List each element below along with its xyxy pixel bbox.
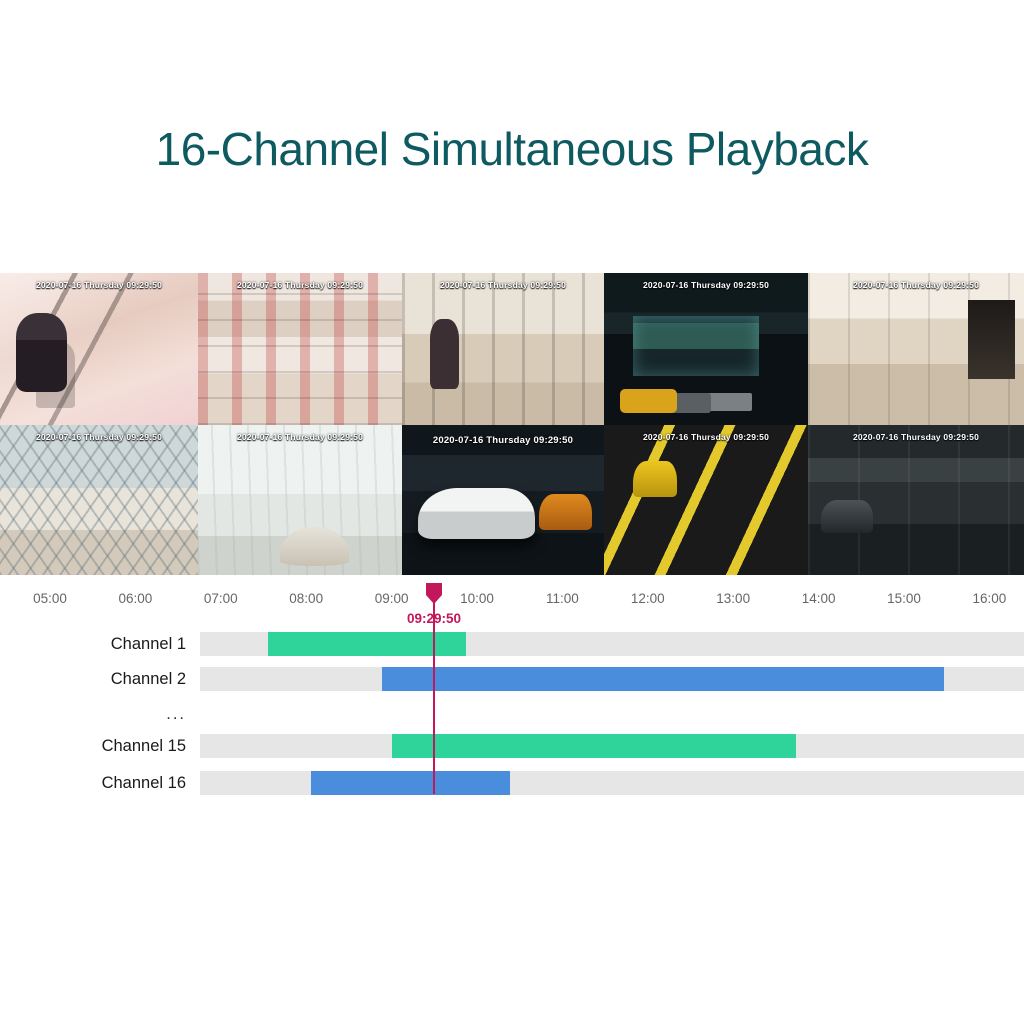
recording-segment-1[interactable]	[382, 667, 944, 691]
video-tile-7[interactable]: 2020-07-16 Thursday 09:29:50	[198, 425, 402, 575]
recording-segment-1[interactable]	[392, 734, 796, 758]
osd-timestamp: 2020-07-16 Thursday 09:29:50	[198, 280, 402, 290]
osd-timestamp: 2020-07-16 Thursday 09:29:50	[0, 280, 198, 290]
video-feed-parking-lot-yellow-lines	[604, 425, 808, 575]
video-feed-mall-white-interior	[198, 425, 402, 575]
recording-segment-1[interactable]	[268, 632, 466, 656]
osd-timestamp: 2020-07-16 Thursday 09:29:50	[604, 280, 808, 290]
channel-track[interactable]	[200, 734, 1024, 758]
axis-tick-1600: 16:00	[972, 591, 1006, 606]
axis-tick-0900: 09:00	[375, 591, 409, 606]
channel-label: Channel 16	[102, 771, 186, 795]
video-feed-warehouse-parking-cars	[808, 425, 1024, 575]
playhead-line	[433, 599, 435, 794]
axis-tick-0800: 08:00	[289, 591, 323, 606]
channel-track[interactable]	[200, 632, 1024, 656]
axis-tick-1200: 12:00	[631, 591, 665, 606]
osd-timestamp: 2020-07-16 Thursday 09:29:50	[808, 432, 1024, 442]
osd-timestamp: 2020-07-16 Thursday 09:29:50	[402, 435, 604, 446]
channel-label: Channel 1	[111, 632, 186, 656]
osd-timestamp: 2020-07-16 Thursday 09:29:50	[604, 432, 808, 442]
channel-label: ...	[166, 702, 186, 726]
channel-label: Channel 2	[111, 667, 186, 691]
osd-timestamp: 2020-07-16 Thursday 09:29:50	[402, 280, 604, 290]
video-tile-3[interactable]: 2020-07-16 Thursday 09:29:50	[402, 273, 604, 425]
recording-segment-1[interactable]	[311, 771, 510, 795]
axis-tick-0500: 05:00	[33, 591, 67, 606]
channel-row-ellipsis[interactable]: ...	[0, 702, 1024, 726]
channel-row-channel-2[interactable]: Channel 2	[0, 667, 1024, 691]
video-feed-parking-garage-cars	[402, 425, 604, 575]
playback-timeline[interactable]: 05:0006:0007:0008:0009:0010:0011:0012:00…	[0, 575, 1024, 835]
video-tile-2[interactable]: 2020-07-16 Thursday 09:29:50	[198, 273, 402, 425]
osd-timestamp: 2020-07-16 Thursday 09:29:50	[808, 280, 1024, 290]
video-wall-grid: 2020-07-16 Thursday 09:29:502020-07-16 T…	[0, 273, 1024, 575]
axis-tick-0600: 06:00	[118, 591, 152, 606]
video-tile-8[interactable]: 2020-07-16 Thursday 09:29:50	[402, 425, 604, 575]
video-tile-9[interactable]: 2020-07-16 Thursday 09:29:50	[604, 425, 808, 575]
video-tile-10[interactable]: 2020-07-16 Thursday 09:29:50	[808, 425, 1024, 575]
playhead-time-label: 09:29:50	[407, 611, 461, 626]
channel-track[interactable]	[200, 667, 1024, 691]
video-feed-street-shopfront-night	[604, 273, 808, 425]
channel-row-channel-1[interactable]: Channel 1	[0, 632, 1024, 656]
osd-timestamp: 2020-07-16 Thursday 09:29:50	[198, 432, 402, 442]
playhead-shield-marker[interactable]	[426, 583, 442, 604]
video-feed-mall-skylight-atrium	[0, 425, 198, 575]
axis-tick-1300: 13:00	[716, 591, 750, 606]
video-tile-5[interactable]: 2020-07-16 Thursday 09:29:50	[808, 273, 1024, 425]
axis-tick-0700: 07:00	[204, 591, 238, 606]
video-tile-1[interactable]: 2020-07-16 Thursday 09:29:50	[0, 273, 198, 425]
axis-tick-1400: 14:00	[802, 591, 836, 606]
video-tile-6[interactable]: 2020-07-16 Thursday 09:29:50	[0, 425, 198, 575]
video-feed-mall-corridor-boutique	[808, 273, 1024, 425]
axis-tick-1100: 11:00	[546, 591, 579, 606]
page-title: 16-Channel Simultaneous Playback	[0, 122, 1024, 176]
axis-tick-1500: 15:00	[887, 591, 921, 606]
video-feed-mall-storefront-walkway	[402, 273, 604, 425]
channel-row-channel-15[interactable]: Channel 15	[0, 734, 1024, 758]
axis-tick-1000: 10:00	[460, 591, 494, 606]
video-feed-mall-escalator-shopper	[0, 273, 198, 425]
channel-track[interactable]	[200, 771, 1024, 795]
time-axis[interactable]: 05:0006:0007:0008:0009:0010:0011:0012:00…	[0, 591, 1024, 613]
video-tile-4[interactable]: 2020-07-16 Thursday 09:29:50	[604, 273, 808, 425]
channel-label: Channel 15	[102, 734, 186, 758]
osd-timestamp: 2020-07-16 Thursday 09:29:50	[0, 432, 198, 442]
video-feed-mall-atrium-multilevel	[198, 273, 402, 425]
channel-row-channel-16[interactable]: Channel 16	[0, 771, 1024, 795]
